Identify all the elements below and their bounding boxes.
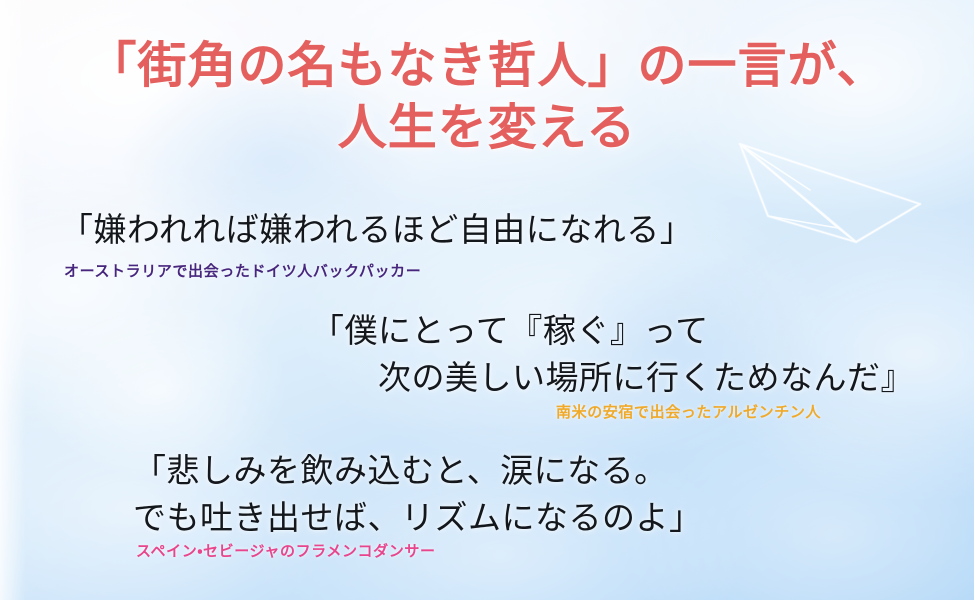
text-layer: 「街角の名もなき哲人」の一言が、 人生を変える 「嫌われれば嫌われるほど自由にな… — [0, 0, 974, 600]
quote-attribution-1: オーストラリアで出会ったドイツ人バックパッカー — [64, 260, 421, 281]
quote-attribution-2: 南米の安宿で出会ったアルゼンチン人 — [556, 401, 821, 422]
quote-text-1: 「嫌われれば嫌われるほど自由になれる」 — [60, 206, 693, 253]
quote-attribution-3: スペイン・セビージャのフラメンコダンサー — [136, 540, 436, 561]
page-title: 「街角の名もなき哲人」の一言が、 人生を変える — [0, 34, 974, 158]
slide-canvas: 「街角の名もなき哲人」の一言が、 人生を変える 「嫌われれば嫌われるほど自由にな… — [0, 0, 974, 600]
quote-text-3: 「悲しみを飲み込むと、涙になる。 でも吐き出せば、リズムになるのよ」 — [133, 447, 703, 541]
quote-text-2: 「僕にとって『稼ぐ』って 次の美しい場所に行くためなんだ』 — [311, 307, 914, 401]
